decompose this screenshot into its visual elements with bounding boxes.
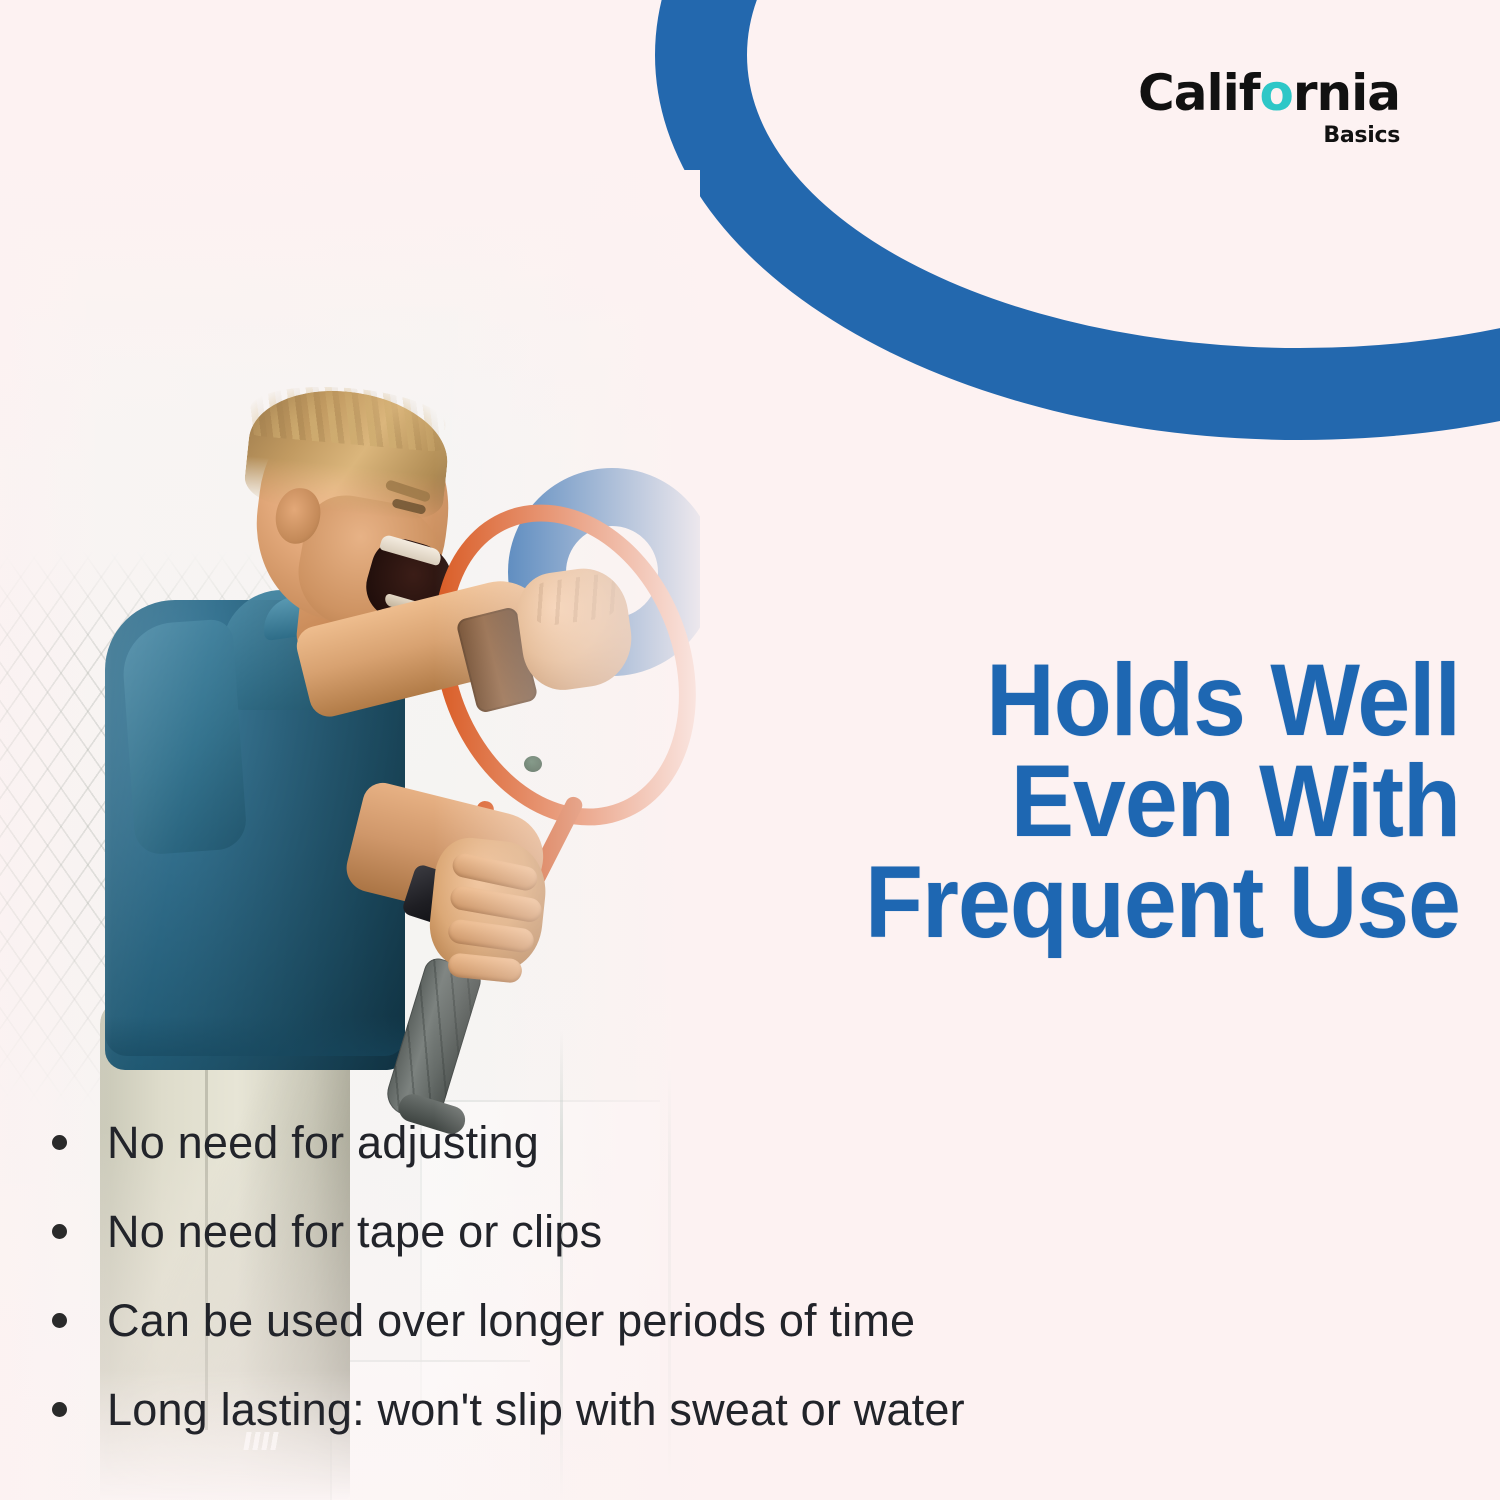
- brand-logo-teal-o: o: [1260, 64, 1293, 122]
- string-dampener: [524, 756, 542, 772]
- brand-logo-wordmark: California: [1138, 68, 1400, 118]
- product-feature-banner: California Basics Holds Well Even With F…: [0, 0, 1500, 1500]
- list-item: Can be used over longer periods of time: [52, 1298, 1452, 1343]
- headline-line-1: Holds Well: [697, 650, 1460, 751]
- list-item-label: Long lasting: won't slip with sweat or w…: [107, 1387, 965, 1432]
- brand-logo-wordmark-prefix: Calif: [1138, 64, 1259, 122]
- bullet-dot-icon: [52, 1313, 67, 1328]
- headline-line-3: Frequent Use: [697, 852, 1460, 953]
- headline-line-2: Even With: [697, 751, 1460, 852]
- page-title: Holds Well Even With Frequent Use: [697, 650, 1460, 953]
- bullet-dot-icon: [52, 1224, 67, 1239]
- list-item: No need for adjusting: [52, 1120, 1452, 1165]
- feature-bullet-list: No need for adjusting No need for tape o…: [52, 1120, 1452, 1432]
- brand-logo-wordmark-suffix: rnia: [1293, 64, 1400, 122]
- list-item-label: No need for adjusting: [107, 1120, 539, 1165]
- list-item: No need for tape or clips: [52, 1209, 1452, 1254]
- brand-logo: California Basics: [1138, 68, 1400, 147]
- bullet-dot-icon: [52, 1135, 67, 1150]
- list-item: Long lasting: won't slip with sweat or w…: [52, 1387, 1452, 1432]
- bullet-dot-icon: [52, 1402, 67, 1417]
- list-item-label: Can be used over longer periods of time: [107, 1298, 915, 1343]
- list-item-label: No need for tape or clips: [107, 1209, 602, 1254]
- shirt-hem: [105, 1016, 405, 1056]
- brand-logo-subtitle: Basics: [1138, 125, 1400, 147]
